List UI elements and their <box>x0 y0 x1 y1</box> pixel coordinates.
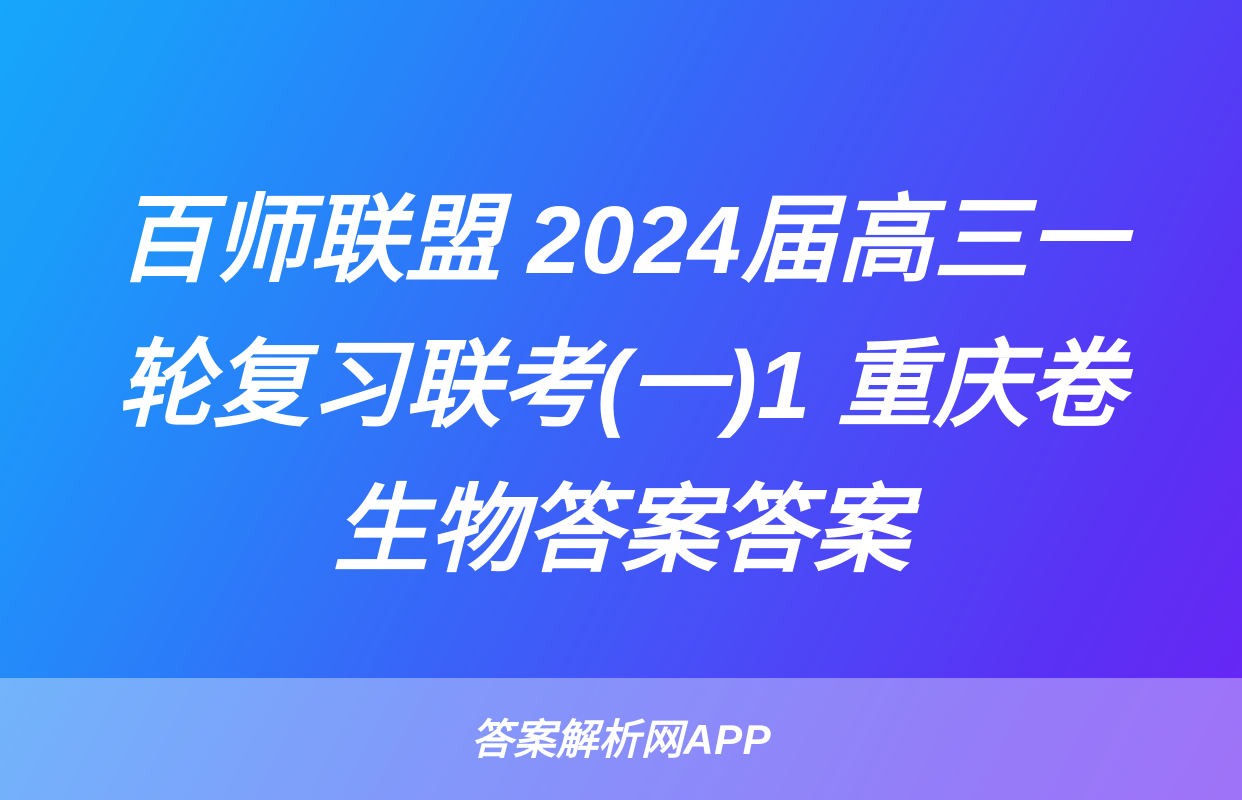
poster-canvas: 百师联盟 2024届高三一 轮复习联考(一)1 重庆卷 生物答案答案 答案解析网… <box>0 0 1242 800</box>
title-line-2: 轮复习联考(一)1 重庆卷 <box>56 313 1186 458</box>
title-line-1: 百师联盟 2024届高三一 <box>56 168 1186 313</box>
poster-title: 百师联盟 2024届高三一 轮复习联考(一)1 重庆卷 生物答案答案 <box>0 168 1242 603</box>
watermark-label: 答案解析网APP <box>471 719 771 761</box>
watermark-band: 答案解析网APP <box>0 678 1242 800</box>
title-line-3: 生物答案答案 <box>56 458 1186 603</box>
